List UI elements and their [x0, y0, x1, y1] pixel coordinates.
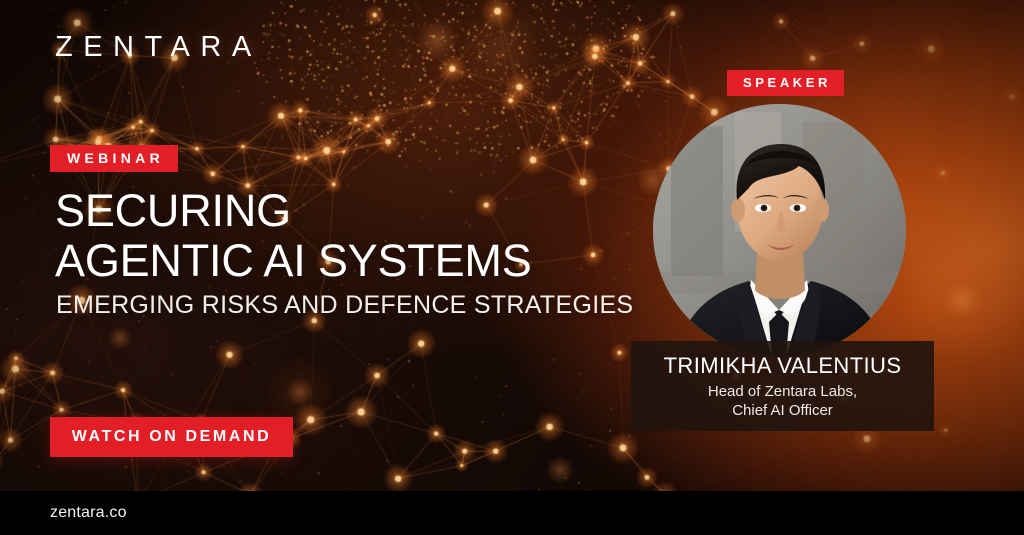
webinar-promo-banner: ZENTARA WEBINAR SECURING AGENTIC AI SYST… — [0, 0, 1024, 535]
speaker-portrait-illustration — [653, 104, 906, 357]
speaker-role: Head of Zentara Labs, Chief AI Officer — [708, 382, 857, 420]
footer-bar: zentara.co — [0, 491, 1024, 535]
subheadline: EMERGING RISKS AND DEFENCE STRATEGIES — [56, 291, 633, 319]
speaker-info-panel: TRIMIKHA VALENTIUS Head of Zentara Labs,… — [631, 341, 934, 431]
zentara-logo: ZENTARA — [55, 31, 262, 63]
webinar-badge: WEBINAR — [50, 145, 178, 172]
footer-website-url: zentara.co — [50, 503, 127, 523]
speaker-portrait — [653, 104, 906, 357]
headline: SECURING AGENTIC AI SYSTEMS — [55, 186, 532, 286]
headline-line-2: AGENTIC AI SYSTEMS — [55, 236, 532, 286]
speaker-badge: SPEAKER — [727, 70, 844, 96]
headline-line-1: SECURING — [55, 185, 291, 236]
speaker-role-line-2: Chief AI Officer — [708, 401, 857, 420]
watch-on-demand-button[interactable]: WATCH ON DEMAND — [50, 417, 293, 457]
speaker-role-line-1: Head of Zentara Labs, — [708, 382, 857, 401]
speaker-name: TRIMIKHA VALENTIUS — [664, 353, 902, 379]
